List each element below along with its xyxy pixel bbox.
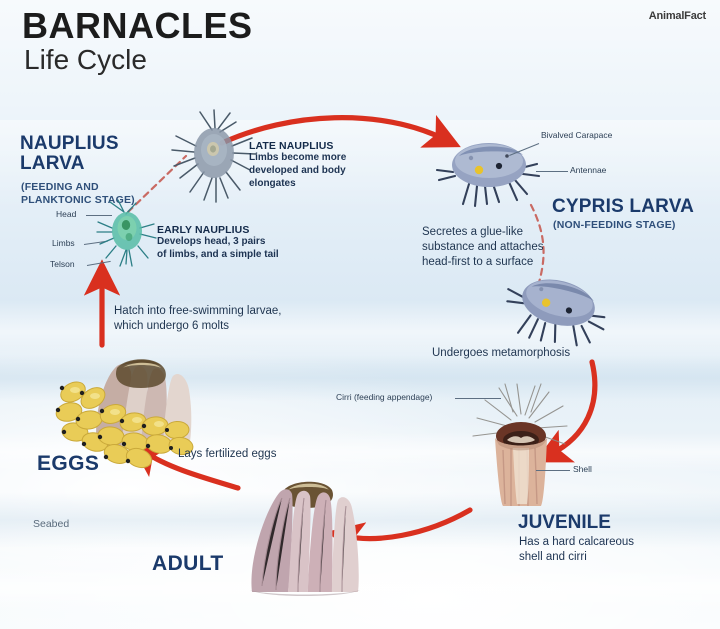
brand-logo: AnimalFact <box>649 10 706 22</box>
note-secretes-line1: Secretes a glue-like <box>422 225 572 240</box>
juvenile-body-line2: shell and cirri <box>519 550 684 565</box>
juvenile-body-line1: Has a hard calcareous <box>519 535 684 550</box>
blurb-late-nauplius-head: LATE NAUPLIUS <box>249 140 389 152</box>
label-shell: Shell <box>573 464 592 474</box>
note-lays-eggs: Lays fertilized eggs <box>178 447 276 462</box>
blurb-late-nauplius-line3: elongates <box>249 178 389 191</box>
nauplius-title-line2: LARVA <box>20 153 85 174</box>
cypris-larva-organism-lower <box>496 260 623 359</box>
leader-line-shell <box>536 470 570 471</box>
note-hatch-line1: Hatch into free-swimming larvae, <box>114 304 281 319</box>
label-antennae: Antennae <box>570 165 606 175</box>
page-title: BARNACLES <box>22 8 253 44</box>
stage-title-adult: ADULT <box>152 552 224 576</box>
label-seabed: Seabed <box>33 518 69 530</box>
stage-title-cypris: CYPRIS LARVA <box>552 197 694 217</box>
page-subtitle: Life Cycle <box>24 46 147 74</box>
note-metamorphosis: Undergoes metamorphosis <box>432 346 570 361</box>
note-secretes-line2: substance and attaches <box>422 240 572 255</box>
blurb-early-nauplius: EARLY NAUPLIUS Develops head, 3 pairs of… <box>157 224 297 262</box>
label-limbs: Limbs <box>52 238 75 248</box>
label-head: Head <box>56 209 76 219</box>
blurb-early-nauplius-line1: Develops head, 3 pairs <box>157 236 297 249</box>
label-bivalved-carapace: Bivalved Carapace <box>541 130 612 140</box>
note-hatch-line2: which undergo 6 molts <box>114 319 281 334</box>
nauplius-title-line1: NAUPLIUS <box>20 133 119 154</box>
adult-barnacle <box>232 468 377 598</box>
note-hatch: Hatch into free-swimming larvae, which u… <box>114 304 281 334</box>
stage-title-nauplius: NAUPLIUS LARVA <box>20 134 119 174</box>
blurb-late-nauplius-line1: Limbs become more <box>249 152 389 165</box>
late-nauplius-organism <box>170 108 258 204</box>
label-telson: Telson <box>50 259 75 269</box>
stage-body-juvenile: Has a hard calcareous shell and cirri <box>519 535 684 565</box>
juvenile-barnacle <box>455 382 585 512</box>
label-cirri: Cirri (feeding appendage) <box>336 392 432 402</box>
cypris-larva-organism-upper <box>435 134 547 208</box>
blurb-early-nauplius-head: EARLY NAUPLIUS <box>157 224 297 236</box>
note-secretes-glue: Secretes a glue-like substance and attac… <box>422 225 572 270</box>
stage-title-juvenile: JUVENILE <box>518 512 611 534</box>
early-nauplius-organism <box>96 198 158 268</box>
infographic-canvas: BARNACLES Life Cycle AnimalFact NAUPLIUS… <box>0 0 720 629</box>
stage-title-eggs: EGGS <box>37 452 99 476</box>
blurb-late-nauplius-line2: developed and body <box>249 165 389 178</box>
blurb-late-nauplius: LATE NAUPLIUS Limbs become more develope… <box>249 140 389 190</box>
leader-line-antennae <box>536 171 568 172</box>
blurb-early-nauplius-line2: of limbs, and a simple tail <box>157 249 297 262</box>
nauplius-sub-line1: (FEEDING AND <box>21 181 99 193</box>
